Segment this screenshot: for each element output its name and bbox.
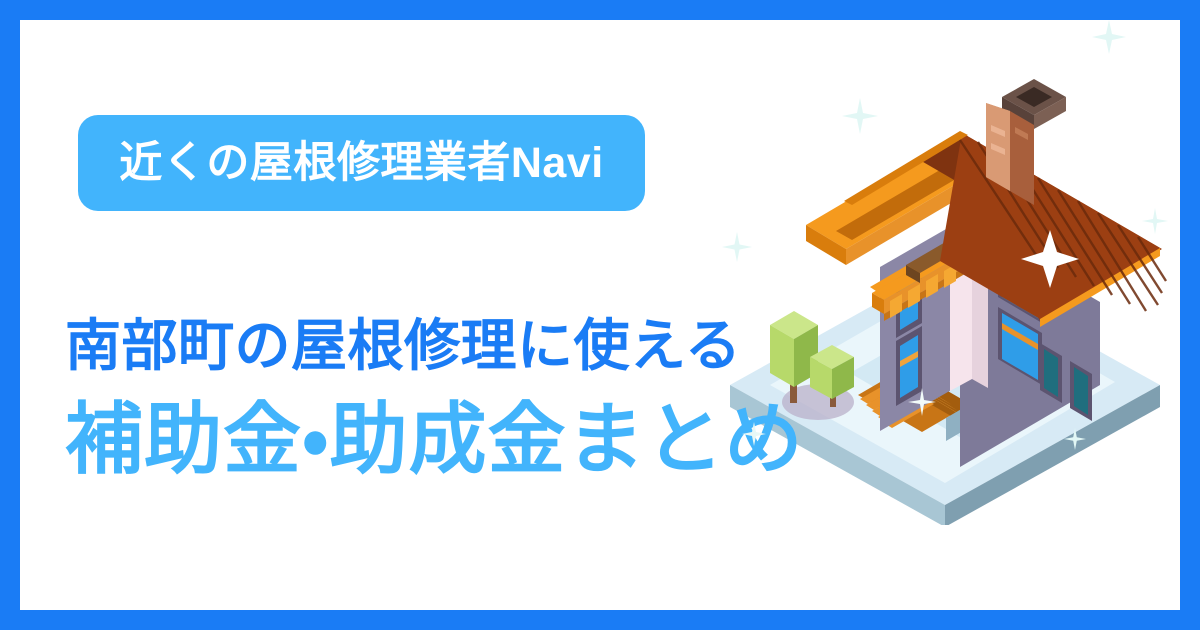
banner-inner-canvas: 近くの屋根修理業者Navi 南部町の屋根修理に使える 補助金・助成金まとめ bbox=[20, 20, 1180, 610]
ogp-banner: 近くの屋根修理業者Navi 南部町の屋根修理に使える 補助金・助成金まとめ bbox=[0, 0, 1200, 630]
headline-block: 南部町の屋根修理に使える 補助金・助成金まとめ bbox=[65, 315, 804, 483]
sparkle-top-right-icon bbox=[1092, 20, 1126, 54]
headline-line-2: 補助金・助成金まとめ bbox=[65, 396, 804, 483]
site-name-badge-label: 近くの屋根修理業者Navi bbox=[119, 142, 603, 185]
headline-line-1: 南部町の屋根修理に使える bbox=[65, 315, 804, 378]
site-name-badge[interactable]: 近くの屋根修理業者Navi bbox=[78, 115, 645, 211]
